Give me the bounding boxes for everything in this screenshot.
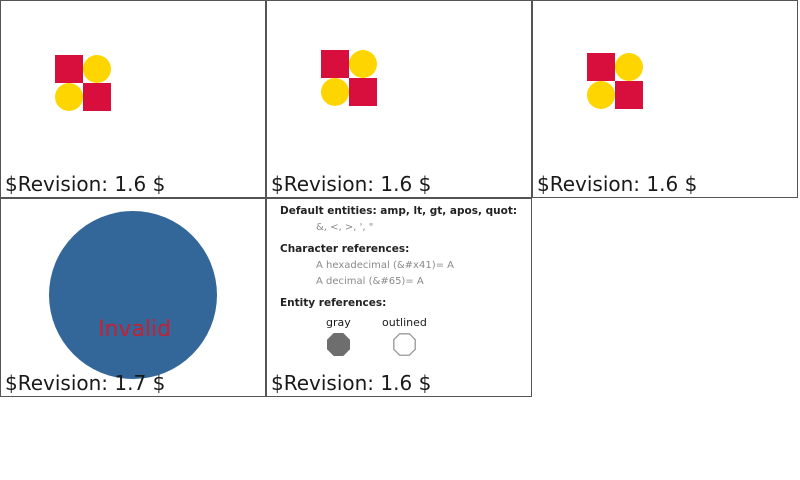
blue-circle-shape bbox=[1, 199, 265, 396]
revision-caption: $Revision: 1.7 $ bbox=[5, 372, 165, 394]
screenshot-canvas: $Revision: 1.6 $ $Revision: 1.6 $ $Revis… bbox=[0, 0, 800, 480]
character-reference-hex: A hexadecimal (&#x41)= A bbox=[316, 259, 525, 272]
entity-sample-gray: gray bbox=[326, 316, 351, 356]
entity-sample-gray-label: gray bbox=[326, 316, 351, 329]
revision-caption: $Revision: 1.6 $ bbox=[271, 173, 431, 195]
entity-shape-row: gray outlined bbox=[280, 316, 525, 362]
entity-references-heading: Entity references: bbox=[280, 297, 525, 310]
octagon-icon bbox=[327, 333, 350, 356]
four-tile-logo bbox=[321, 50, 377, 106]
default-entities-heading: Default entities: amp, lt, gt, apos, quo… bbox=[280, 205, 525, 218]
panel-entities-doc: Default entities: amp, lt, gt, apos, quo… bbox=[266, 198, 532, 397]
panel-logo-3: $Revision: 1.6 $ bbox=[532, 0, 798, 198]
panel-invalid-circle: Invalid $Revision: 1.7 $ bbox=[0, 198, 266, 397]
revision-caption: $Revision: 1.6 $ bbox=[537, 173, 697, 195]
four-tile-logo bbox=[55, 55, 111, 111]
default-entities-value: &, <, >, ', " bbox=[316, 221, 525, 234]
character-reference-decimal: A decimal (&#65)= A bbox=[316, 275, 525, 288]
entity-doc-body: Default entities: amp, lt, gt, apos, quo… bbox=[280, 205, 525, 362]
panel-logo-1: $Revision: 1.6 $ bbox=[0, 0, 266, 198]
revision-caption: $Revision: 1.6 $ bbox=[5, 173, 165, 195]
revision-caption: $Revision: 1.6 $ bbox=[271, 372, 431, 394]
four-tile-logo bbox=[587, 53, 643, 109]
entity-sample-outlined-label: outlined bbox=[382, 316, 427, 329]
panel-logo-2: $Revision: 1.6 $ bbox=[266, 0, 532, 198]
invalid-text: Invalid bbox=[98, 319, 171, 341]
entity-sample-outlined: outlined bbox=[382, 316, 427, 356]
character-references-heading: Character references: bbox=[280, 243, 525, 256]
octagon-icon bbox=[393, 333, 416, 356]
circle-stage bbox=[1, 199, 265, 396]
